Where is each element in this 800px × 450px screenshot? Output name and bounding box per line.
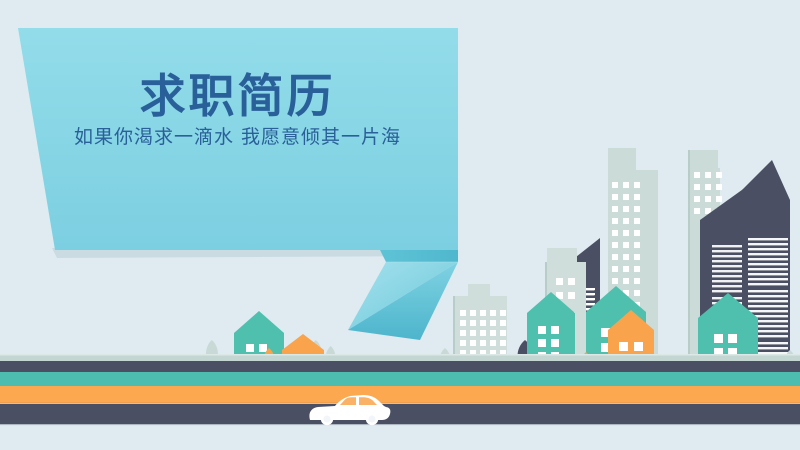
origami-ribbon-banner: [0, 0, 800, 450]
banner-face: [18, 28, 458, 250]
slide-canvas: 求职简历 如果你渴求一滴水 我愿意倾其一片海: [0, 0, 800, 450]
banner-fold-band: [380, 250, 458, 262]
